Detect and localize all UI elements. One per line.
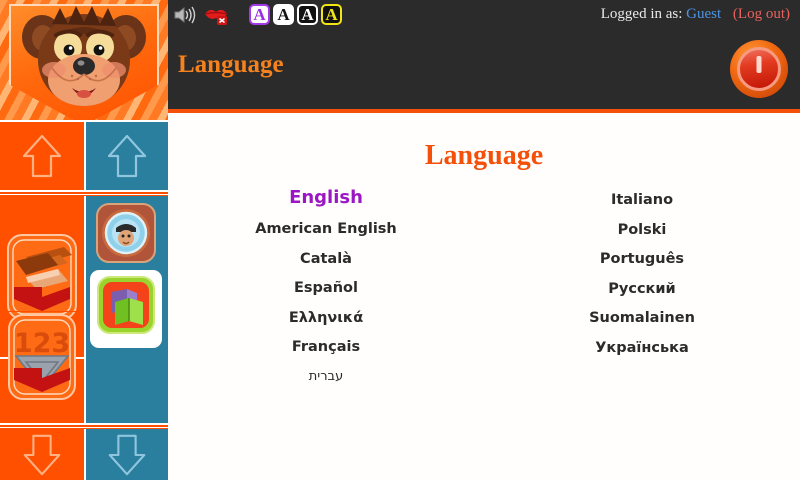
logged-in-label: Logged in as: [601,6,683,22]
login-status: Logged in as: Guest (Log out) [601,6,800,23]
power-bar [757,56,762,73]
logged-in-user: Guest [686,6,721,22]
lips-muted-icon[interactable] [203,5,229,25]
scroll-up-teal-button[interactable] [86,122,168,190]
sidebar-divider [0,190,168,192]
arrow-up-icon [105,132,149,180]
books-icon [97,276,155,334]
content-title: Language [168,140,800,172]
language-option[interactable]: Català [168,245,484,275]
topbar: A A A A Logged in as: Guest (Log out) [168,0,800,29]
123-icon: 123 [6,312,78,404]
scroll-up-orange-button[interactable] [0,122,84,190]
language-option[interactable]: Italiano [484,186,800,216]
bear-mascot-avatar[interactable] [0,0,168,120]
quit-power-button[interactable] [730,40,788,98]
language-option[interactable]: עברית [168,363,484,391]
language-list: EnglishAmerican EnglishCatalàEspañolΕλλη… [168,186,800,391]
language-option[interactable]: Français [168,333,484,363]
language-option[interactable]: Українська [484,334,800,364]
bear-face-icon [16,4,152,112]
logout-link[interactable]: (Log out) [733,6,790,22]
language-column-right: ItalianoPolskiPortuguêsРусскийSuomalaine… [484,186,800,391]
app-root: 123 [0,0,800,480]
font-style-white-on-black-button[interactable]: A [297,4,318,25]
sidebar: 123 [0,0,168,480]
sidebar-right-column [86,196,168,357]
sidebar-divider [0,427,168,428]
books-language-button[interactable] [97,276,155,334]
sidebar-divider [0,423,168,425]
language-option[interactable]: Ελληνικά [168,304,484,334]
arrow-up-icon [20,132,64,180]
scroll-down-orange-button[interactable] [0,429,84,480]
language-option[interactable]: American English [168,215,484,245]
power-icon [737,47,781,91]
svg-text:123: 123 [14,328,70,359]
font-style-yellow-on-black-button[interactable]: A [321,4,342,25]
font-style-button-group: A A A A [249,4,342,25]
language-option[interactable]: Español [168,274,484,304]
content-area: Language EnglishAmerican EnglishCatalàEs… [168,117,800,480]
sandwich-icon [4,231,80,323]
profile-avatar-button[interactable] [95,202,157,264]
language-option[interactable]: Suomalainen [484,304,800,334]
language-option[interactable]: Русский [484,275,800,305]
language-option[interactable]: Polski [484,216,800,246]
arrow-down-icon [20,432,64,478]
sidebar-right-empty-cell [86,357,168,423]
arrow-down-icon [105,432,149,478]
font-style-purple-button[interactable]: A [249,4,270,25]
language-column-left: EnglishAmerican EnglishCatalàEspañolΕλλη… [168,186,484,391]
sidebar-divider [0,194,168,195]
language-option[interactable]: English [168,186,484,215]
avatar-icon [95,202,157,264]
language-option[interactable]: Português [484,245,800,275]
topbar-icon-group: A A A A [168,4,342,25]
scroll-down-teal-button[interactable] [86,429,168,480]
font-style-black-on-white-button[interactable]: A [273,4,294,25]
page-title: Language [178,51,284,79]
speaker-icon[interactable] [173,5,197,25]
numbers-123-button[interactable]: 123 [6,312,78,404]
page-header: Language [168,29,800,113]
